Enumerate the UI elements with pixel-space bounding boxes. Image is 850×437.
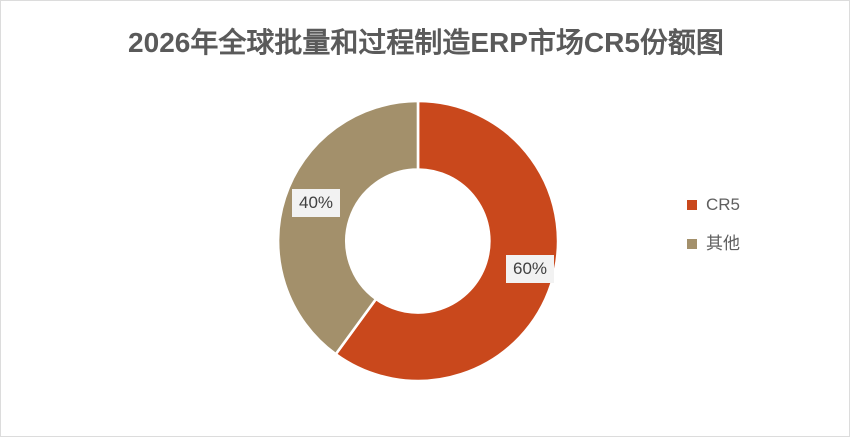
chart-canvas: 2026年全球批量和过程制造ERP市场CR5份额图 60% 40% CR5 其他 bbox=[0, 0, 850, 437]
donut-plot-area bbox=[277, 100, 559, 382]
legend-label-other: 其他 bbox=[706, 234, 740, 254]
legend-swatch-cr5-icon bbox=[687, 200, 697, 210]
legend-swatch-other-icon bbox=[687, 239, 697, 249]
donut-chart-svg bbox=[277, 100, 559, 382]
legend-item-other[interactable]: 其他 bbox=[687, 234, 740, 254]
data-label-cr5: 60% bbox=[506, 255, 554, 283]
data-label-other: 40% bbox=[292, 189, 340, 217]
chart-legend: CR5 其他 bbox=[687, 195, 740, 254]
legend-item-cr5[interactable]: CR5 bbox=[687, 195, 740, 215]
chart-title: 2026年全球批量和过程制造ERP市场CR5份额图 bbox=[1, 25, 850, 61]
legend-label-cr5: CR5 bbox=[706, 195, 740, 215]
